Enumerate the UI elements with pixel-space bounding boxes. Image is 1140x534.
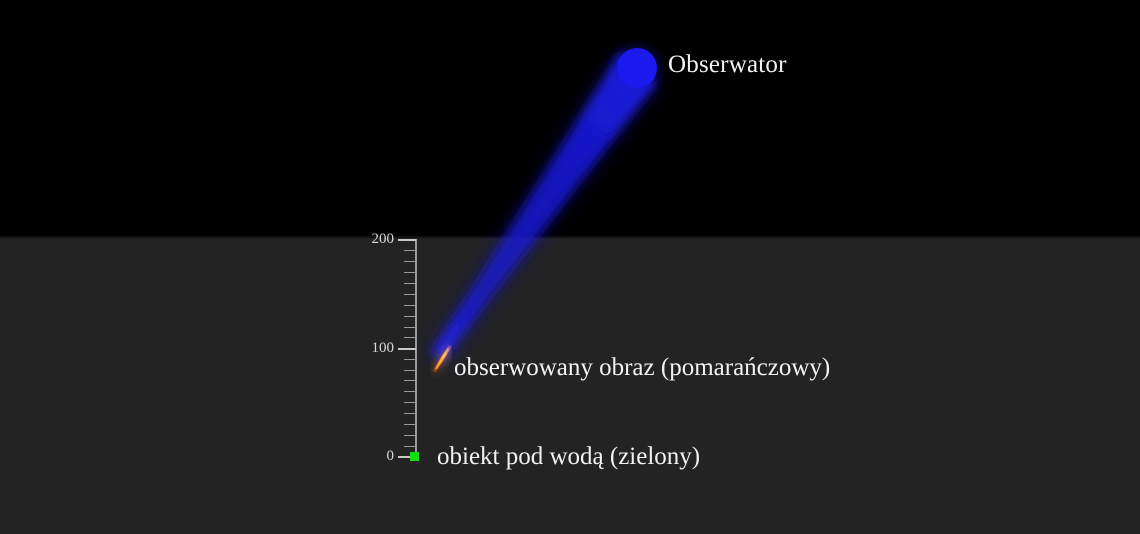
apparent-image-label: obserwowany obraz (pomarańczowy) (454, 354, 830, 382)
axis-tick-major-200 (398, 239, 416, 241)
axis-tick-minor (404, 370, 416, 371)
water-surface-line (0, 236, 1140, 238)
axis-tick-label-200: 200 (344, 231, 394, 248)
green-square-marker-icon (410, 452, 419, 461)
axis-tick-minor (404, 283, 416, 284)
axis-tick-minor (404, 402, 416, 403)
axis-tick-minor (404, 435, 416, 436)
axis-tick-label-100: 100 (344, 340, 394, 357)
axis-tick-minor (404, 316, 416, 317)
axis-tick-minor (404, 424, 416, 425)
water-region (0, 238, 1140, 534)
orange-streak-icon (418, 340, 452, 380)
axis-tick-minor (404, 337, 416, 338)
axis-tick-label-0: 0 (344, 448, 394, 465)
underwater-object-label: obiekt pod wodą (zielony) (437, 443, 700, 471)
axis-tick-minor (404, 261, 416, 262)
observer-dot-icon (617, 48, 657, 88)
axis-tick-minor (404, 327, 416, 328)
sky-region (0, 0, 1140, 238)
observer-label: Obserwator (668, 51, 787, 79)
refraction-visualization: Obserwator 200 100 0 obserwowany obraz (… (0, 0, 1140, 534)
axis-tick-major-100 (398, 348, 416, 350)
axis-tick-minor (404, 413, 416, 414)
axis-tick-minor (404, 250, 416, 251)
axis-tick-minor (404, 391, 416, 392)
axis-tick-minor (404, 359, 416, 360)
axis-tick-minor (404, 305, 416, 306)
axis-tick-minor (404, 294, 416, 295)
axis-tick-minor (404, 380, 416, 381)
axis-tick-minor (404, 272, 416, 273)
axis-tick-minor (404, 446, 416, 447)
